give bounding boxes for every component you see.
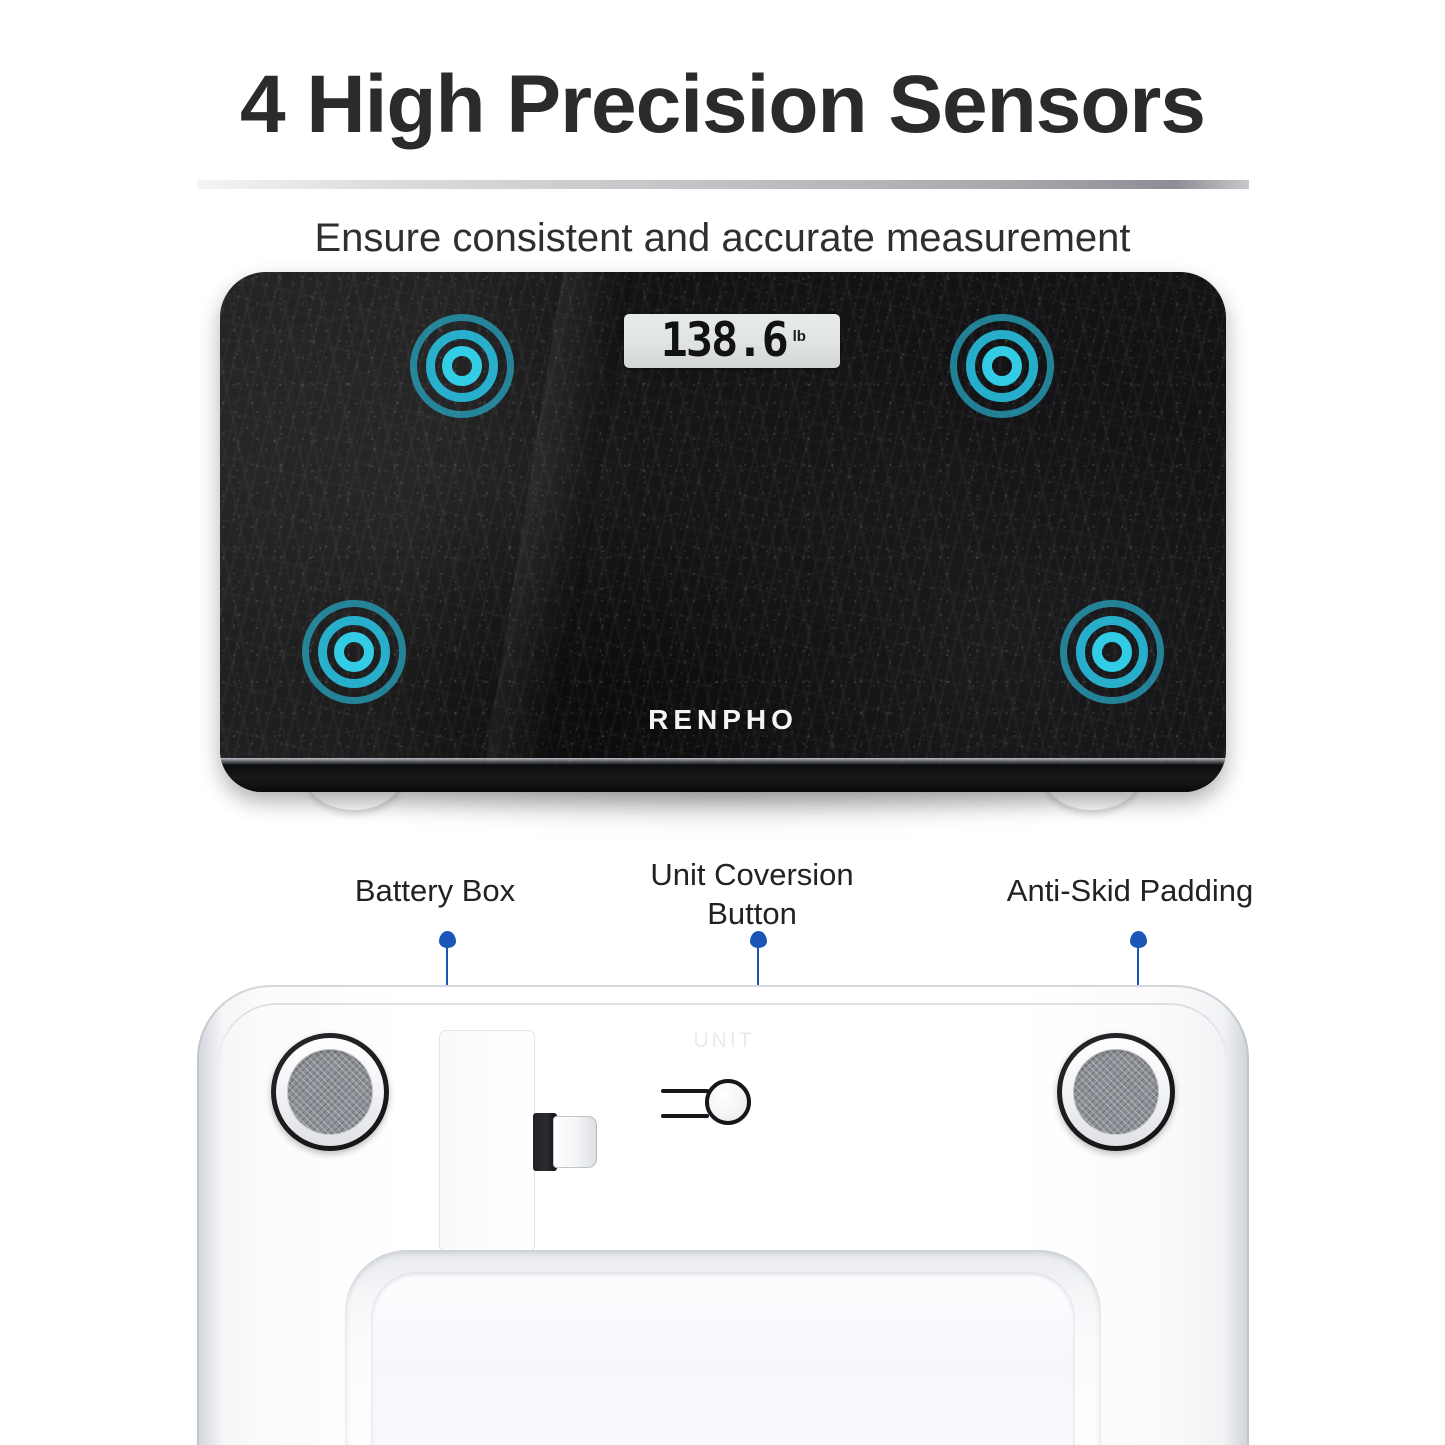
callout-label-unit-conversion-button: Unit Coversion Button bbox=[562, 856, 942, 934]
page-title: 4 High Precision Sensors bbox=[0, 62, 1445, 148]
callout-label-unit-line1: Unit Coversion bbox=[562, 856, 942, 895]
scale-bottom-view: UNIT bbox=[197, 985, 1249, 1445]
anti-skid-pad-left bbox=[271, 1033, 389, 1151]
shell-edge-left bbox=[197, 985, 223, 1445]
callout-label-unit-line2: Button bbox=[562, 895, 942, 934]
scale-recessed-inner bbox=[371, 1272, 1075, 1445]
unit-button-circle[interactable] bbox=[705, 1079, 751, 1125]
lcd-weight-unit: lb bbox=[793, 328, 806, 345]
sensor-inner-ring-icon bbox=[442, 346, 482, 386]
battery-box-latch bbox=[533, 1113, 599, 1171]
scale-glass-platform: 138.6 lb RENPHO bbox=[220, 272, 1226, 792]
shell-edge-right bbox=[1223, 985, 1249, 1445]
sensor-ring-bottom-right bbox=[1060, 600, 1164, 704]
anti-skid-pad-texture bbox=[287, 1049, 373, 1135]
sensor-ring-top-right bbox=[950, 314, 1054, 418]
sensor-ring-bottom-left bbox=[302, 600, 406, 704]
product-infographic: 4 High Precision Sensors Ensure consiste… bbox=[0, 0, 1445, 1445]
renpho-logo: RENPHO bbox=[220, 704, 1226, 736]
unit-button-line-top bbox=[661, 1089, 709, 1093]
callout-label-anti-skid-padding: Anti-Skid Padding bbox=[905, 872, 1355, 911]
title-divider bbox=[197, 180, 1249, 189]
anti-skid-pad-right bbox=[1057, 1033, 1175, 1151]
unit-button-line-bottom bbox=[661, 1114, 709, 1118]
glass-bottom-edge bbox=[220, 758, 1226, 792]
sensor-inner-ring-icon bbox=[334, 632, 374, 672]
sensor-inner-ring-icon bbox=[1092, 632, 1132, 672]
sensor-inner-ring-icon bbox=[982, 346, 1022, 386]
anti-skid-pad-texture bbox=[1073, 1049, 1159, 1135]
battery-box-outline bbox=[439, 1030, 535, 1252]
scale-recessed-platform bbox=[345, 1250, 1101, 1445]
scale-top-view: 138.6 lb RENPHO bbox=[214, 268, 1232, 828]
sensor-ring-top-left bbox=[410, 314, 514, 418]
lcd-weight-value: 138.6 bbox=[661, 317, 787, 364]
battery-latch-light bbox=[553, 1116, 597, 1168]
unit-button-label: UNIT bbox=[659, 1029, 789, 1053]
page-subtitle: Ensure consistent and accurate measureme… bbox=[0, 216, 1445, 261]
lcd-display: 138.6 lb bbox=[624, 314, 840, 368]
unit-conversion-button-group[interactable]: UNIT bbox=[659, 1029, 789, 1149]
